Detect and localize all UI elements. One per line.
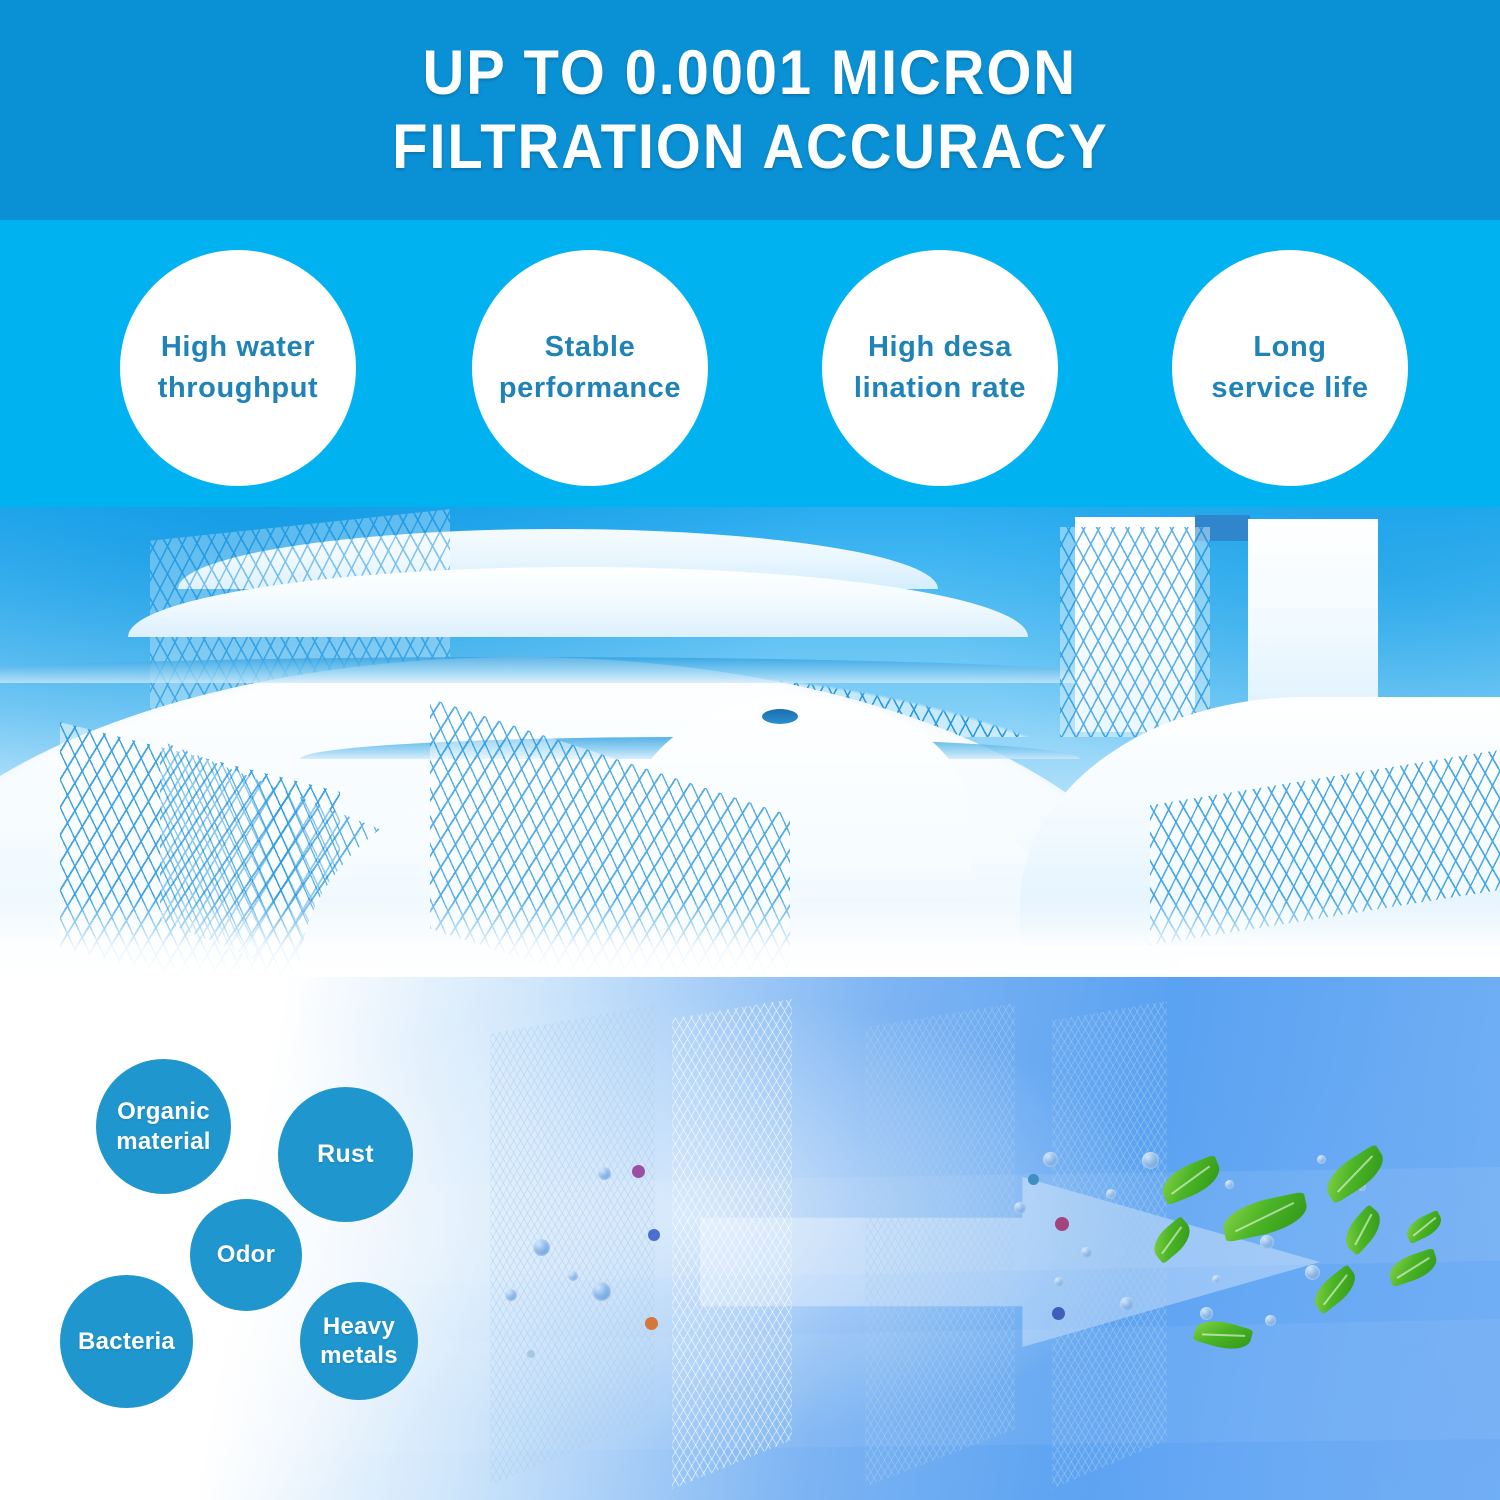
feature-label-2-line1: High desa — [854, 327, 1026, 368]
contaminant-speck-teal — [1028, 1174, 1039, 1185]
feature-circle-high-desalination-rate: High desa lination rate — [822, 250, 1058, 486]
contaminant-label-2: Odor — [217, 1240, 276, 1269]
contaminant-speck-navy — [1052, 1307, 1065, 1320]
water-particle — [1043, 1152, 1058, 1167]
filter-panel-cyan-membrane — [672, 999, 792, 1489]
feature-circle-stable-performance: Stable performance — [472, 250, 708, 486]
membrane-bottom-fade — [0, 897, 1500, 977]
water-particle — [1106, 1189, 1116, 1199]
filter-panel-carbon — [865, 1003, 1015, 1487]
membrane-core-hole — [762, 709, 798, 724]
banner-headline-line2: FILTRATION ACCURACY — [392, 115, 1108, 179]
clean-water-bubble — [1212, 1275, 1221, 1284]
contaminant-circle-bacteria: Bacteria — [60, 1275, 193, 1408]
contaminant-circle-heavy-metals: Heavy metals — [300, 1282, 418, 1400]
water-particle — [505, 1289, 517, 1301]
contaminant-label-0-line2: material — [116, 1127, 210, 1156]
feature-label-3: Long service life — [1203, 327, 1376, 409]
header-banner: UP TO 0.0001 MICRON FILTRATION ACCURACY — [0, 0, 1500, 220]
feature-label-1-line1: Stable — [499, 327, 681, 368]
contaminant-speck-blue — [648, 1229, 660, 1241]
feature-label-2: High desa lination rate — [846, 327, 1034, 409]
clean-water-bubble — [1260, 1235, 1274, 1249]
water-particle — [1054, 1277, 1064, 1287]
contaminant-label-0-line1: Organic — [116, 1097, 210, 1126]
clean-water-bubble — [1305, 1265, 1320, 1280]
membrane-roll-photo — [0, 507, 1500, 977]
water-particle — [598, 1167, 611, 1180]
feature-label-1: Stable performance — [491, 327, 689, 409]
water-particle — [1120, 1297, 1134, 1311]
product-infographic: UP TO 0.0001 MICRON FILTRATION ACCURACY … — [0, 0, 1500, 1500]
filter-panel-pp-cotton — [490, 1005, 655, 1485]
feature-label-0-line1: High water — [158, 327, 319, 368]
clean-water-bubble — [1265, 1315, 1276, 1326]
contaminant-speck-purple — [632, 1165, 645, 1178]
feature-label-0: High water throughput — [150, 327, 327, 409]
contaminant-label-4-line2: metals — [320, 1341, 398, 1370]
water-particle — [533, 1239, 550, 1256]
contaminant-label-0: Organic material — [116, 1097, 210, 1156]
contaminant-label-4-line1: Heavy — [320, 1312, 398, 1341]
contaminant-circle-rust: Rust — [278, 1087, 413, 1222]
clean-water-bubble — [1317, 1155, 1326, 1164]
filter-panel-final-membrane — [1052, 1001, 1167, 1489]
contaminant-speck-small — [527, 1350, 535, 1358]
feature-circle-high-water-throughput: High water throughput — [120, 250, 356, 486]
feature-label-3-line2: service life — [1211, 368, 1368, 409]
clean-water-bubble — [1200, 1307, 1213, 1320]
contaminant-circle-organic-material: Organic material — [96, 1059, 231, 1194]
contaminant-speck-orange — [645, 1317, 658, 1330]
feature-label-0-line2: throughput — [158, 368, 319, 409]
contaminant-label-1: Rust — [317, 1139, 374, 1170]
contaminant-label-3: Bacteria — [78, 1327, 175, 1356]
feature-highlights-band: High water throughput Stable performance… — [0, 220, 1500, 507]
water-particle — [1014, 1202, 1026, 1214]
water-particle — [592, 1282, 611, 1301]
contaminant-speck-magenta — [1055, 1217, 1069, 1231]
filtration-diagram-section: Organic material Rust Odor Bacteria Heav… — [0, 977, 1500, 1500]
feature-label-2-line2: lination rate — [854, 368, 1026, 409]
clean-water-bubble — [1142, 1152, 1159, 1169]
water-particle — [568, 1271, 578, 1281]
feature-label-1-line2: performance — [499, 368, 681, 409]
clean-water-bubble — [1225, 1180, 1234, 1189]
contaminant-label-4: Heavy metals — [320, 1312, 398, 1371]
feature-circle-long-service-life: Long service life — [1172, 250, 1408, 486]
contaminant-circle-odor: Odor — [190, 1199, 302, 1311]
water-particle — [1081, 1247, 1092, 1258]
membrane-mesh-right — [1060, 527, 1210, 737]
banner-headline-line1: UP TO 0.0001 MICRON — [423, 41, 1077, 105]
feature-label-3-line1: Long — [1211, 327, 1368, 368]
